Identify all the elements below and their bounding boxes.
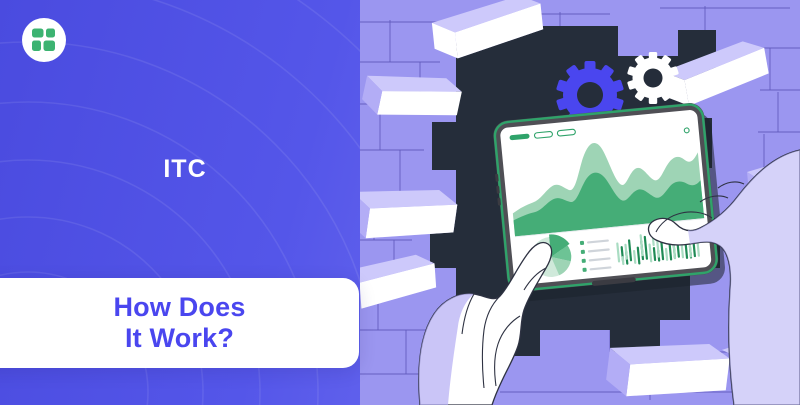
headline-line-1: How Does: [113, 292, 245, 323]
four-squares-grid-icon: [31, 27, 57, 53]
banner-canvas: ITC How Does It Work?: [0, 0, 800, 405]
headline-line-2: It Work?: [125, 323, 234, 354]
illustration-wall-tablet: [360, 0, 800, 405]
eyebrow-text: ITC: [0, 155, 370, 184]
brand-logo[interactable]: [22, 18, 66, 62]
toolbar-pill-outline-1[interactable]: [534, 131, 552, 138]
headline-card: How Does It Work?: [0, 278, 359, 368]
toolbar-pill-outline-2[interactable]: [557, 129, 575, 136]
